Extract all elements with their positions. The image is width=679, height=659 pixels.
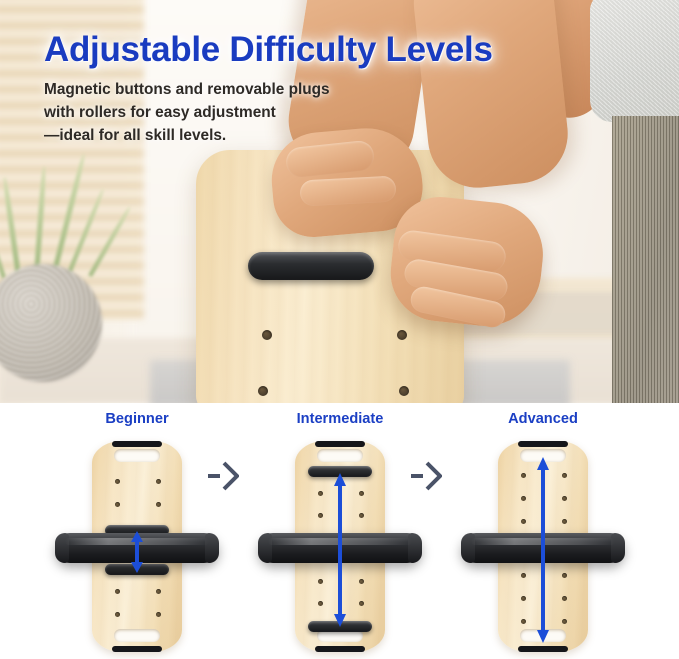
- magnetic-button-hole: [521, 596, 526, 601]
- magnetic-button-hole: [115, 612, 120, 617]
- subtitle-line-3: —ideal for all skill levels.: [44, 125, 374, 148]
- level-diagram-advanced: [459, 439, 627, 654]
- removable-stopper-plug: [248, 252, 374, 280]
- hero-photo: Adjustable Difficulty Levels Magnetic bu…: [0, 0, 679, 403]
- magnetic-button-hole: [562, 596, 567, 601]
- magnetic-button-hole: [115, 589, 120, 594]
- magnetic-button-hole: [258, 386, 268, 396]
- magnetic-button-hole: [521, 619, 526, 624]
- page-title: Adjustable Difficulty Levels: [44, 31, 564, 68]
- magnetic-button-hole: [359, 601, 364, 606]
- board-handle-cap-top: [518, 441, 568, 447]
- magnetic-button-hole: [156, 612, 161, 617]
- board-handle-cap-bottom: [112, 646, 162, 652]
- range-arrow-advanced: [537, 457, 549, 643]
- magnetic-button-hole: [156, 502, 161, 507]
- magnetic-button-hole: [397, 330, 407, 340]
- level-label-advanced: Advanced: [448, 411, 638, 427]
- board-handle-cap-bottom: [518, 646, 568, 652]
- magnetic-button-hole: [562, 519, 567, 524]
- subtitle-line-2: with rollers for easy adjustment: [44, 102, 374, 125]
- board-handle-top: [114, 449, 160, 462]
- arrow-right-icon: [410, 459, 442, 493]
- board-handle-top: [317, 449, 363, 462]
- difficulty-levels-section: Beginner Intermediate Advanced: [0, 403, 679, 659]
- magnetic-button-hole: [521, 496, 526, 501]
- magnetic-button-hole: [521, 573, 526, 578]
- magnetic-button-hole: [318, 579, 323, 584]
- magnetic-button-hole: [359, 579, 364, 584]
- level-labels-row: Beginner Intermediate Advanced: [0, 411, 679, 433]
- magnetic-button-hole: [318, 601, 323, 606]
- magnetic-button-hole: [359, 513, 364, 518]
- magnetic-button-hole: [521, 519, 526, 524]
- level-diagram-beginner: [53, 439, 221, 654]
- magnetic-button-hole: [115, 502, 120, 507]
- magnetic-button-hole: [521, 473, 526, 478]
- level-label-beginner: Beginner: [42, 411, 232, 427]
- board-handle-cap-bottom: [315, 646, 365, 652]
- magnetic-button-hole: [399, 386, 409, 396]
- person-shirt-texture: [590, 0, 679, 122]
- magnetic-button-hole: [562, 473, 567, 478]
- magnetic-button-hole: [562, 573, 567, 578]
- board-handle-cap-top: [315, 441, 365, 447]
- product-infographic: Adjustable Difficulty Levels Magnetic bu…: [0, 0, 679, 659]
- left-hand-finger: [299, 176, 396, 207]
- magnetic-button-hole: [562, 496, 567, 501]
- magnetic-button-hole: [115, 479, 120, 484]
- page-subtitle: Magnetic buttons and removable plugs wit…: [44, 79, 374, 147]
- board-handle-bottom: [114, 629, 160, 642]
- range-arrow-intermediate: [334, 473, 346, 627]
- magnetic-button-hole: [156, 589, 161, 594]
- magnetic-button-hole: [318, 491, 323, 496]
- range-arrow-beginner: [131, 531, 143, 573]
- magnetic-button-hole: [318, 513, 323, 518]
- level-label-intermediate: Intermediate: [245, 411, 435, 427]
- board-handle-cap-top: [112, 441, 162, 447]
- person-trousers-corduroy-texture: [612, 116, 679, 403]
- level-diagram-intermediate: [256, 439, 424, 654]
- subtitle-line-1: Magnetic buttons and removable plugs: [44, 79, 374, 102]
- magnetic-button-hole: [359, 491, 364, 496]
- arrow-right-icon: [207, 459, 239, 493]
- magnetic-button-hole: [562, 619, 567, 624]
- magnetic-button-hole: [156, 479, 161, 484]
- magnetic-button-hole: [262, 330, 272, 340]
